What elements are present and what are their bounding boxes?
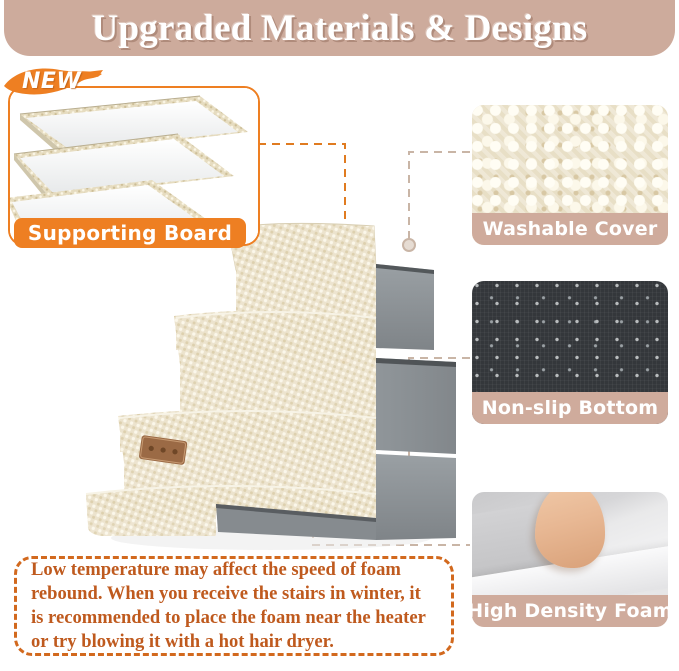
label-supporting-board[interactable]: Supporting Board bbox=[14, 218, 246, 248]
feature-panel-non-slip-bottom[interactable]: Non-slip Bottom bbox=[472, 281, 668, 424]
product-image-pet-stairs bbox=[76, 222, 476, 552]
label-non-slip-bottom: Non-slip Bottom bbox=[472, 392, 668, 424]
feature-panel-high-density-foam[interactable]: High Density Foam bbox=[472, 492, 668, 627]
new-badge-label: NEW bbox=[22, 69, 81, 94]
header-banner: Upgraded Materials & Designs bbox=[4, 0, 675, 56]
page-title: Upgraded Materials & Designs bbox=[92, 7, 588, 50]
warning-note-box: Low temperature may affect the speed of … bbox=[14, 556, 454, 656]
feature-panel-washable-cover[interactable]: Washable Cover bbox=[472, 105, 668, 245]
pet-stairs-illustration bbox=[76, 222, 476, 552]
label-high-density-foam: High Density Foam bbox=[472, 595, 668, 627]
label-high-density-foam-text: High Density Foam bbox=[472, 600, 668, 622]
hand-pressing-foam bbox=[535, 492, 606, 568]
label-washable-cover-text: Washable Cover bbox=[483, 218, 658, 240]
infographic-root: Upgraded Materials & Designs bbox=[0, 0, 679, 671]
label-non-slip-bottom-text: Non-slip Bottom bbox=[482, 397, 658, 419]
label-washable-cover: Washable Cover bbox=[472, 213, 668, 245]
label-supporting-board-text: Supporting Board bbox=[28, 221, 232, 245]
warning-note-text: Low temperature may affect the speed of … bbox=[31, 558, 437, 653]
new-badge: NEW bbox=[2, 64, 106, 104]
